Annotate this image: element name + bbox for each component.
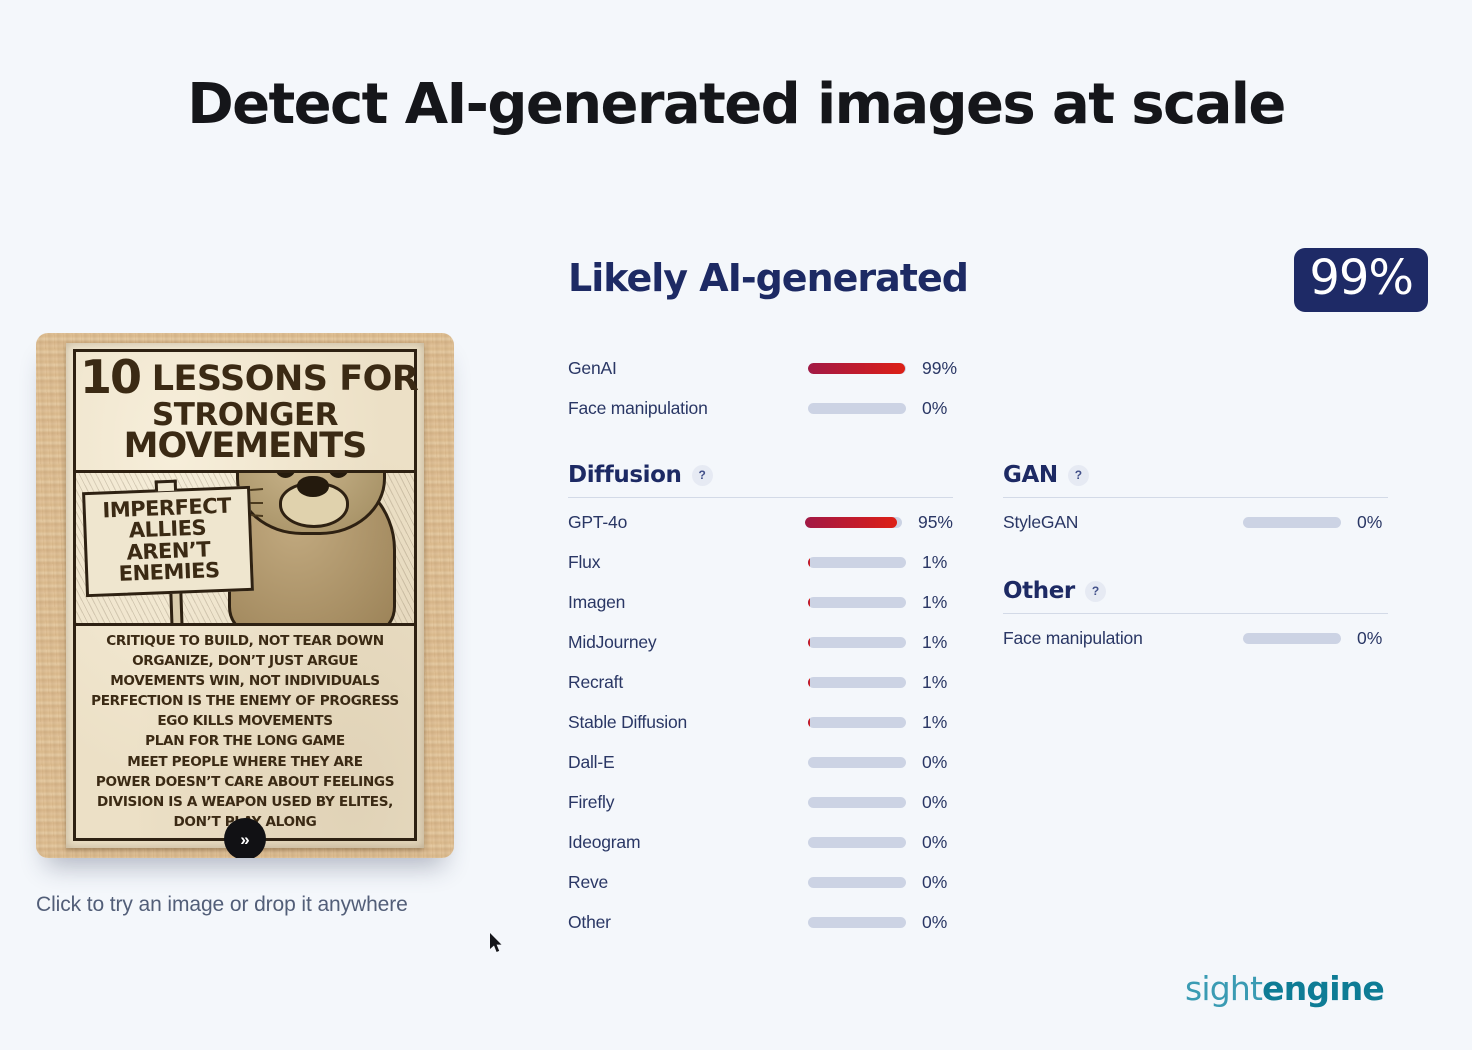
score-row: MidJourney1% [568,622,953,662]
poster-lesson-line: MEET PEOPLE WHERE THEY ARE [81,752,409,772]
score-row-value: 1% [922,632,947,653]
poster-headline: 10 LESSONS FOR STRONGER MOVEMENTS [73,349,417,473]
score-bar-fill [805,517,897,528]
protest-sign-clip [155,479,177,491]
upload-hint-text: Click to try an image or drop it anywher… [36,893,454,917]
score-row-label: Ideogram [568,832,808,853]
score-bar-track [808,677,906,688]
score-row-label: Face manipulation [568,398,808,419]
poster-artwork: 10 LESSONS FOR STRONGER MOVEMENTS [66,343,424,848]
next-image-button[interactable]: » [224,818,266,858]
poster-lesson-line: MOVEMENTS WIN, NOT INDIVIDUALS [81,671,409,691]
score-bar-track [805,517,902,528]
logo-part-sight: sight [1185,969,1262,1008]
poster-headline-number: 10 [80,350,140,404]
score-bar-track [1243,517,1341,528]
score-row-value: 1% [922,672,947,693]
score-row-label: Firefly [568,792,808,813]
score-row-label: Other [568,912,808,933]
section-divider [1003,497,1388,498]
section-title: Diffusion [568,462,682,488]
score-row-value: 0% [1357,628,1382,649]
score-row-label: Dall-E [568,752,808,773]
score-row: Flux1% [568,542,953,582]
poster-headline-line3: MOVEMENTS [80,430,410,464]
uploaded-image-thumbnail[interactable]: 10 LESSONS FOR STRONGER MOVEMENTS [36,333,454,858]
score-row-label: MidJourney [568,632,808,653]
page-title: Detect AI-generated images at scale [0,72,1472,137]
model-breakdown-columns: Diffusion?GPT-4o95%Flux1%Imagen1%MidJour… [568,462,1428,942]
score-bar-fill [808,557,810,568]
score-bar-fill [808,363,905,374]
poster-headline-line1: LESSONS FOR [152,359,419,399]
poster-lessons-list: CRITIQUE TO BUILD, NOT TEAR DOWNORGANIZE… [73,623,417,841]
score-row-label: Stable Diffusion [568,712,808,733]
protest-sign-post [169,592,187,622]
mouse-cursor [490,933,504,954]
help-icon[interactable]: ? [1085,581,1106,602]
score-row-label: Face manipulation [1003,628,1243,649]
help-icon[interactable]: ? [692,465,713,486]
score-row: Stable Diffusion1% [568,702,953,742]
section-spacer [1003,542,1388,578]
poster-lesson-line: EGO KILLS MOVEMENTS [81,711,409,731]
score-row: Face manipulation0% [1003,618,1388,658]
score-row-value: 0% [922,872,947,893]
score-row-value: 1% [922,712,947,733]
poster-lesson-line: ORGANIZE, DON’T JUST ARGUE [81,651,409,671]
image-preview-panel[interactable]: 10 LESSONS FOR STRONGER MOVEMENTS [36,333,454,917]
score-bar-track [808,757,906,768]
score-row: Reve0% [568,862,953,902]
section-divider [1003,613,1388,614]
score-row: StyleGAN0% [1003,502,1388,542]
score-row-label: Imagen [568,592,808,613]
score-row-label: StyleGAN [1003,512,1243,533]
verdict-row: Likely AI-generated 99% [568,248,1428,324]
help-icon[interactable]: ? [1068,465,1089,486]
score-bar-track [808,637,906,648]
detection-results-panel: Likely AI-generated 99% GenAI99%Face man… [568,248,1428,942]
verdict-text: Likely AI-generated [568,248,968,300]
score-row: Firefly0% [568,782,953,822]
summary-scores: GenAI99%Face manipulation0% [568,348,978,428]
score-row-value: 0% [1357,512,1382,533]
score-row-value: 1% [922,592,947,613]
score-row-value: 0% [922,792,947,813]
otter-eye-right [328,473,349,478]
score-bar-track [808,797,906,808]
score-bar-track [808,403,906,414]
section-title: GAN [1003,462,1058,488]
section-title: Other [1003,578,1075,604]
score-row: GPT-4o95% [568,502,953,542]
score-row-value: 0% [922,398,947,419]
score-bar-track [808,557,906,568]
protest-sign: IMPERFECT ALLIES AREN’T ENEMIES [82,485,254,596]
score-row-value: 1% [922,552,947,573]
poster-lesson-line: DIVISION IS A WEAPON USED BY ELITES, [81,792,409,812]
score-bar-fill [808,677,810,688]
poster-lesson-line: PERFECTION IS THE ENEMY OF PROGRESS [81,691,409,711]
score-bar-track [808,717,906,728]
score-badge: 99% [1294,248,1428,312]
score-row-label: Flux [568,552,808,573]
column-gan-other: GAN?StyleGAN0%Other?Face manipulation0% [1003,462,1388,942]
score-bar-track [808,597,906,608]
poster-illustration: IMPERFECT ALLIES AREN’T ENEMIES [73,473,417,623]
logo-part-engine: engine [1262,969,1384,1008]
score-bar-track [808,363,906,374]
poster-lesson-line: CRITIQUE TO BUILD, NOT TEAR DOWN [81,631,409,651]
score-row: GenAI99% [568,348,978,388]
score-bar-track [1243,633,1341,644]
score-bar-track [808,917,906,928]
score-bar-fill [808,717,810,728]
otter-eye-left [275,473,296,478]
score-row-label: GPT-4o [568,512,805,533]
score-row-label: Reve [568,872,808,893]
section-header-diffusion: Diffusion? [568,462,953,497]
score-row-label: Recraft [568,672,808,693]
score-row: Ideogram0% [568,822,953,862]
score-row: Face manipulation0% [568,388,978,428]
score-row-value: 99% [922,358,957,379]
score-row: Recraft1% [568,662,953,702]
score-bar-track [808,877,906,888]
column-diffusion: Diffusion?GPT-4o95%Flux1%Imagen1%MidJour… [568,462,953,942]
sightengine-logo: sightengine [1185,969,1384,1008]
score-row: Other0% [568,902,953,942]
poster-lesson-line: POWER DOESN’T CARE ABOUT FEELINGS [81,772,409,792]
score-row-value: 95% [918,512,953,533]
protest-sign-line2: ALLIES AREN’T [89,516,247,565]
poster-lesson-line: PLAN FOR THE LONG GAME [81,731,409,751]
score-row-label: GenAI [568,358,808,379]
section-divider [568,497,953,498]
section-header-other: Other? [1003,578,1388,613]
score-row: Dall-E0% [568,742,953,782]
score-bar-track [808,837,906,848]
score-bar-fill [808,637,810,648]
score-bar-fill [808,597,810,608]
section-header-gan: GAN? [1003,462,1388,497]
score-row-value: 0% [922,752,947,773]
otter-nose [297,476,329,497]
score-row: Imagen1% [568,582,953,622]
score-row-value: 0% [922,912,947,933]
score-row-value: 0% [922,832,947,853]
